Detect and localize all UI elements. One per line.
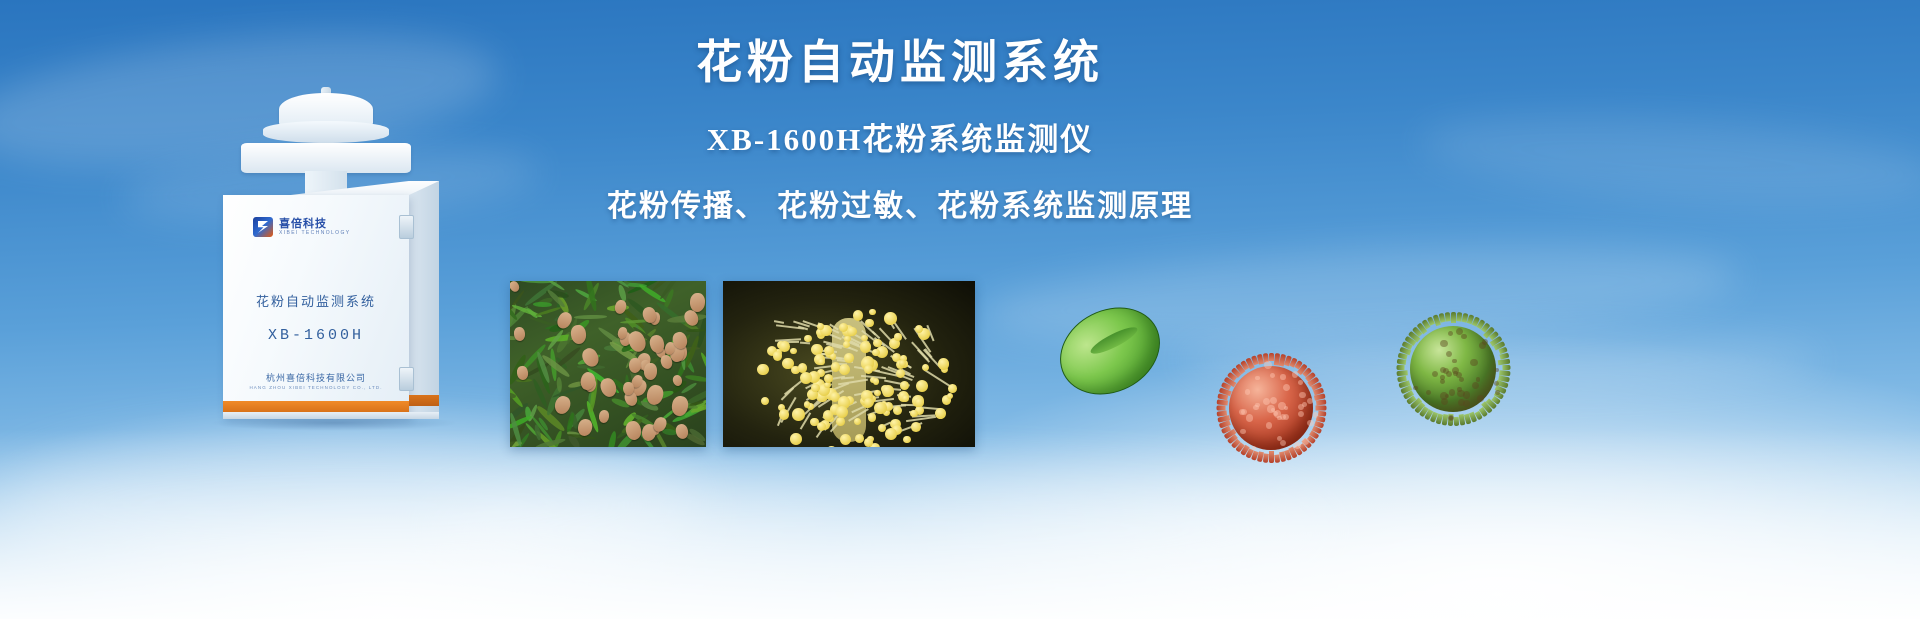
anther-grain [818,359,824,365]
grain-surface-dimple [1298,380,1303,385]
anther-grain [938,358,949,369]
grain-surface-dimple [1253,405,1259,411]
conifer-needle [556,377,562,392]
device-latch-lower [399,367,414,391]
grain-surface-dimple [1307,398,1313,404]
grain-spine [1216,406,1225,411]
grain-surface-dimple [1270,397,1277,404]
anther-grain [817,323,824,330]
anther-grain [790,433,802,445]
device-inlet-plate [241,143,411,173]
anther-grain [836,417,845,426]
grain-spine [1269,451,1274,463]
conifer-needle [529,316,555,327]
grain-spine [1269,353,1274,361]
grain-surface-dimple [1270,373,1275,378]
device-front-panel: 喜倍科技 XIBEI TECHNOLOGY 花粉自动监测系统 XB-1600H … [223,195,409,417]
grain-surface-dimple [1495,390,1500,395]
grain-surface-dimple [1452,359,1457,364]
grain-surface-dimple [1255,376,1259,380]
grain-surface-dimple [1302,438,1309,445]
grain-surface-dimple [1470,359,1477,366]
pollen-grain-green-spiky [1396,312,1510,426]
anther-grain [882,385,894,397]
anther-grain [947,393,953,399]
grain-spine [1451,312,1456,323]
anther-grain [860,341,871,352]
anther-grain [911,422,921,432]
grain-spine [1502,365,1510,370]
anther-grain [836,406,848,418]
anther-grain [823,410,834,421]
anther-grain [839,364,850,375]
device-company-cn: 杭州喜倍科技有限公司 [223,371,409,384]
conifer-needle [533,302,552,308]
conifer-needle [606,430,617,447]
anther-grain [903,436,911,444]
grain-spine [1444,312,1450,322]
grain-surface-dimple [1302,402,1307,407]
conifer-needle [535,306,561,317]
conifer-needle [684,374,706,383]
grain-surface-dimple [1280,374,1285,379]
anther-grain [779,409,789,419]
device-logo: 喜倍科技 XIBEI TECHNOLOGY [253,217,351,237]
anther-grain [893,406,902,415]
brand-name-cn: 喜倍科技 [279,218,351,230]
device-inlet-ring [263,121,389,143]
anther-grain [874,390,881,397]
grain-surface-dimple [1479,342,1486,349]
pollen-cone [513,327,525,342]
anther-grain [922,364,929,371]
grain-surface-dimple [1453,371,1458,376]
anther-grain [864,438,873,447]
grain-surface-dimple [1307,420,1314,427]
anther-grain [902,395,909,402]
pollen-cone [623,382,634,395]
device-company-en: HANG ZHOU XIBEI TECHNOLOGY CO., LTD. [223,385,409,390]
grain-surface-dimple [1283,414,1289,420]
anther-grain [864,398,873,407]
grain-surface-dimple [1477,395,1484,402]
page-description: 花粉传播、 花粉过敏、花粉系统监测原理 [600,181,1200,225]
anther-grain [935,408,946,419]
grain-surface-dimple [1266,422,1272,428]
anther-grain [884,312,897,325]
anther-grain [844,353,854,363]
anther-grain [853,310,863,320]
device-accent-stripe [223,401,409,412]
pollen-grain-red-spiky [1215,352,1327,464]
anther-grain [869,309,875,315]
grain-surface-dimple [1440,375,1445,380]
device-base [223,412,439,419]
photo-yellow-catkin-anthers [723,281,975,447]
anther-grain [792,408,805,421]
pollen-cone [510,281,521,294]
anther-grain [761,397,769,405]
grain-surface-dimple [1440,340,1447,347]
device-model-number: XB-1600H [223,327,409,344]
page-title: 花粉自动监测系统 [600,34,1200,92]
grain-spine [1315,406,1326,411]
anther-grain [894,333,901,340]
conifer-needle [699,351,706,387]
anther-grain [873,378,880,385]
grain-surface-dimple [1494,381,1499,386]
headings-block: 花粉自动监测系统 XB-1600H花粉系统监测仪 花粉传播、 花粉过敏、花粉系统… [600,34,1200,225]
device-latch-upper [399,215,414,239]
grain-spine [1274,454,1280,463]
grain-spine [1396,370,1408,376]
anther-grain [868,413,877,422]
photo-cypress-pollen-cones [510,281,706,447]
device-product-name: 花粉自动监测系统 [223,291,409,310]
anther-grain [948,384,957,393]
grain-spine [1396,359,1405,365]
anther-grain [915,398,924,407]
grain-surface-dimple [1264,361,1272,369]
anther-grain [864,365,874,375]
anther-grain [855,434,864,443]
anther-grain [916,380,928,392]
grain-spine [1216,411,1227,417]
grain-surface-dimple [1472,382,1479,389]
anther-grain [827,446,835,447]
anther-grain [800,372,812,384]
anther-grain [865,319,873,327]
grain-surface-dimple [1267,405,1274,412]
anther-grain [804,335,812,343]
grain-surface-dimple [1277,436,1282,441]
grain-spine [1453,417,1458,426]
anther-grain [840,434,851,445]
grain-surface-dimple [1413,386,1417,390]
anther-grain [757,364,768,375]
brand-name-en: XIBEI TECHNOLOGY [279,231,351,237]
anther-grain [885,428,897,440]
anther-grain [873,339,882,348]
grain-surface-dimple [1457,387,1461,391]
pollen-grain-green-ellipse [1058,310,1160,390]
xibei-logo-icon [253,217,273,237]
anther-grain [900,381,909,390]
page-subtitle: XB-1600H花粉系统监测仪 [600,114,1200,159]
pollen-cone [643,363,657,380]
anther-grain [773,351,782,360]
grain-surface-dimple [1245,389,1250,394]
catkin-filament [800,342,810,345]
grain-surface-dimple [1461,334,1466,339]
grain-spine [1458,414,1465,425]
grain-surface-dimple [1252,446,1256,450]
grain-surface-dimple [1476,377,1480,381]
pollen-monitor-device: 喜倍科技 XIBEI TECHNOLOGY 花粉自动监测系统 XB-1600H … [205,85,455,425]
device-accent-stripe-side [409,395,439,406]
anther-grain [782,358,794,370]
grain-spine [1396,365,1404,370]
anther-grain [804,401,810,407]
catkin-filament [879,328,891,341]
anther-grain [899,360,906,367]
anther-grain [831,362,841,372]
anther-grain [779,341,790,352]
pollen-monitoring-banner: 花粉自动监测系统 XB-1600H花粉系统监测仪 花粉传播、 花粉过敏、花粉系统… [0,0,1920,619]
anther-grain [811,384,820,393]
grain-surface-dimple [1284,406,1288,410]
horizon-haze [0,429,1920,619]
anther-grain [854,418,861,425]
anther-grain [847,327,857,337]
grain-surface-dimple [1299,392,1305,398]
pollen-cone [598,409,610,423]
anther-grain [878,424,886,432]
anther-grain [790,348,797,355]
conifer-needle [574,314,607,318]
anther-grain [872,349,879,356]
